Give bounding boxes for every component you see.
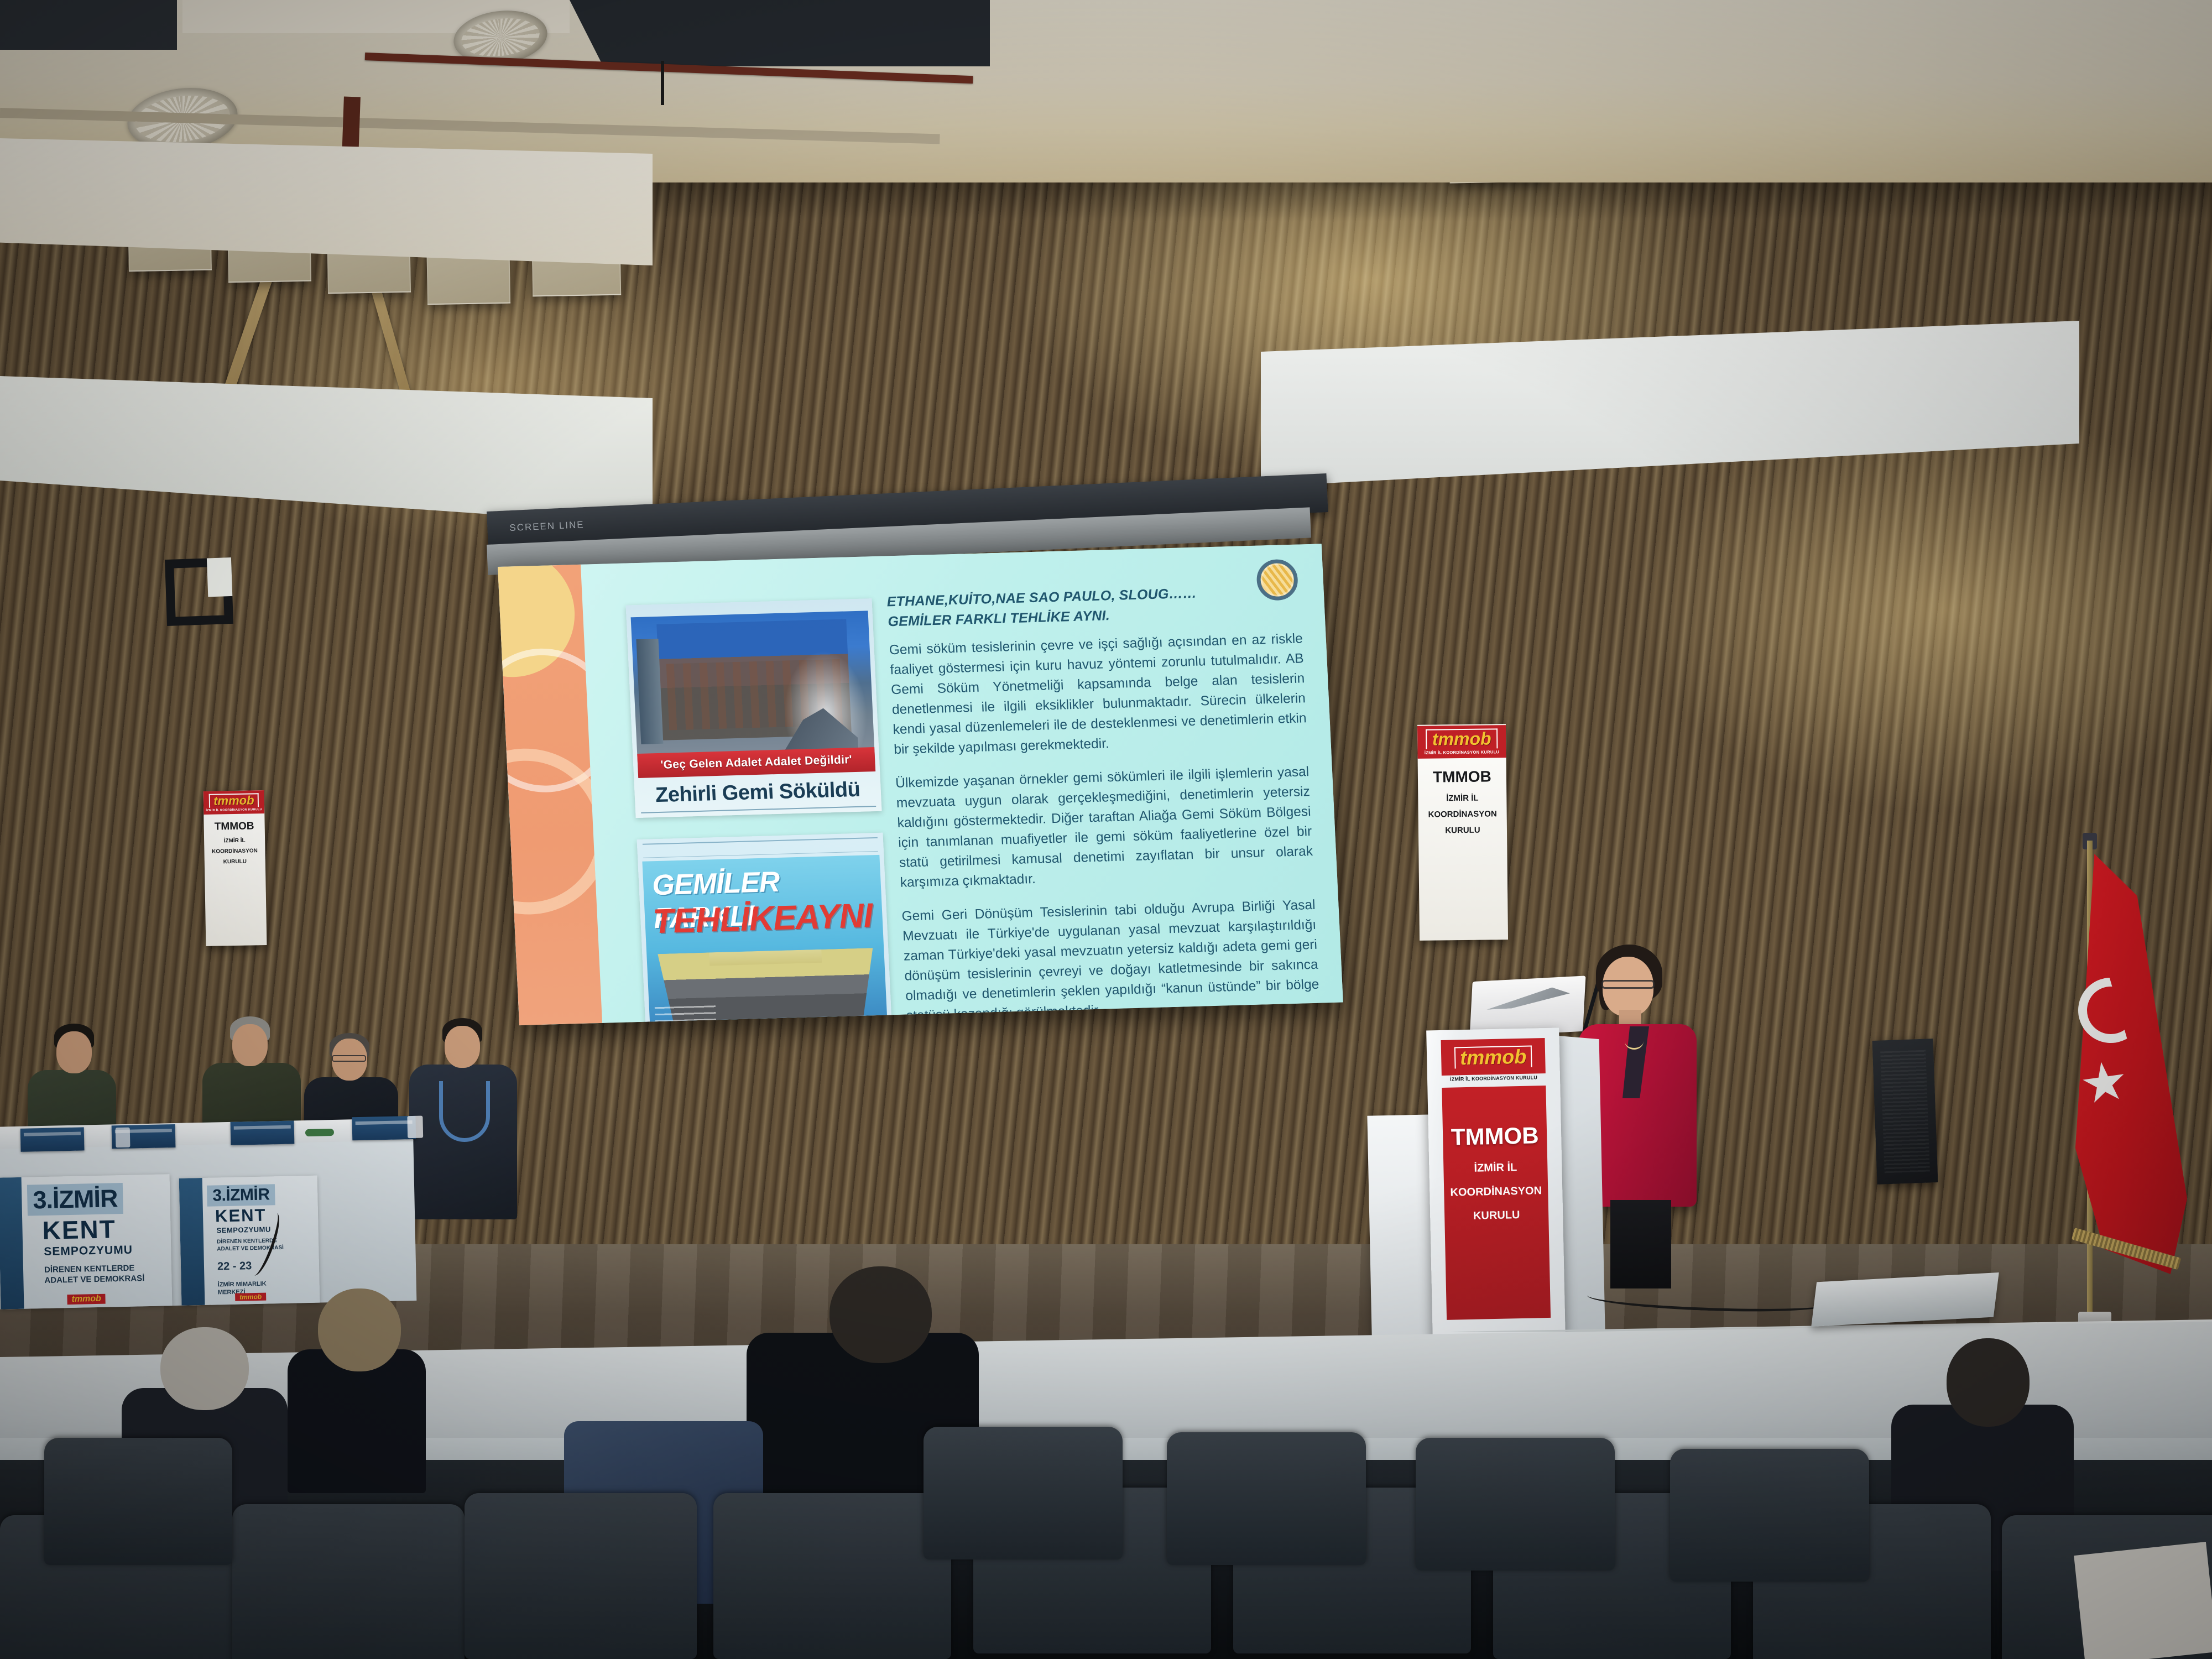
podium-line1: TMMOB [1443,1122,1547,1151]
symposium-banner-text: 3.İZMİR KENT SEMPOZYUMU DİRENEN KENTLERD… [27,1182,168,1286]
tmmob-logo: tmmob İZMİR İL KOORDİNASYON KURULU [1417,724,1506,759]
podium-name-plate: TMMOB İZMİR İL KOORDİNASYON KURULU [1442,1086,1551,1320]
panelist-head [232,1024,268,1066]
symposium-banner-bluebar [179,1178,205,1306]
tmmob-org-line1: TMMOB [1418,768,1506,786]
pa-loudspeaker [1872,1039,1938,1185]
podium-front: tmmob İZMİR İL KOORDİNASYON KURULU TMMOB… [1426,1027,1566,1340]
slide-paragraph-1: Gemi söküm tesislerinin çevre ve işçi sa… [889,629,1308,760]
water-glass [407,1116,423,1139]
audience-seat [1670,1449,1869,1582]
marker-pen [305,1129,334,1136]
news-cover-line2: TEHLİKE [652,898,797,941]
ceiling-recess-left [0,0,177,50]
news-clipping-bottom: GEMİLER FARKLI TEHLİKE AYNI [637,833,896,1025]
tmmob-org-line1: TMMOB [204,820,265,833]
presenter-legs [1610,1200,1671,1288]
audience-seat [924,1427,1123,1559]
necklace-icon [1625,1033,1644,1050]
podium-tmmob-logo: tmmob [1441,1038,1546,1076]
news-cover: GEMİLER FARKLI TEHLİKE AYNI [642,855,891,1025]
tmmob-logo: tmmob İZMİR İL KOORDİNASYON KURULU [204,790,265,815]
symposium-venue-line1: İZMİR MİMARLIK [218,1281,267,1288]
podium-logo-caption: İZMİR İL KOORDİNASYON KURULU [1442,1074,1546,1082]
tmmob-org-line2: İZMİR İL [1418,793,1506,804]
tmmob-banner-left: tmmob İZMİR İL KOORDİNASYON KURULU TMMOB… [204,790,267,946]
water-glass [116,1128,131,1148]
slide-surface: 'Geç Gelen Adalet Adalet Değildir' Zehir… [498,544,1343,1025]
audience-seat [232,1504,465,1659]
paper-sheet [2074,1542,2212,1659]
panel-table: 3.İZMİR KENT SEMPOZYUMU DİRENEN KENTLERD… [0,1118,416,1310]
tmmob-banner-text: TMMOB İZMİR İL KOORDİNASYON KURULU [1418,758,1507,836]
news-cover-line3: AYNI [794,896,873,937]
podium-line3: KOORDİNASYON [1444,1185,1548,1199]
projection-screen: 'Geç Gelen Adalet Adalet Değildir' Zehir… [498,544,1343,1025]
audience-seat [465,1493,697,1659]
audience-seat [713,1493,951,1659]
panelist-head [445,1026,480,1068]
symposium-subtitle-line2: ADALET VE DEMOKRASİ [44,1273,167,1286]
audience-person-head [160,1327,249,1410]
tmmob-banner-text: TMMOB İZMİR İL KOORDİNASYON KURULU [204,813,265,865]
symposium-tmmob-logo: tmmob [235,1293,266,1301]
screen-brand-label: SCREEN LINE [509,519,585,534]
tmmob-org-line2: İZMİR İL [204,837,265,844]
ship-superstructure [709,937,822,966]
flag-cloth [2068,854,2187,1274]
wall-square-motif-icon [165,557,233,626]
tmmob-logo-sub: İZMİR İL KOORDİNASYON KURULU [1421,749,1503,755]
symposium-banner-b: 3.İZMİR KENT SEMPOZYUMU DİRENEN KENTLERD… [179,1176,320,1306]
tmmob-logo-word: tmmob [209,793,259,808]
panelist-head [56,1031,92,1073]
audience-seat [1416,1438,1615,1571]
podium-logo-word: tmmob [1454,1045,1532,1068]
glasses-icon [332,1055,366,1062]
audience-person-head [830,1266,932,1363]
news-clipping-top: 'Geç Gelen Adalet Adalet Değildir' Zehir… [626,598,882,818]
audience-person-head [318,1288,401,1371]
tmmob-org-line4: KURULU [1418,825,1507,836]
audience-seat [1167,1432,1366,1565]
tmmob-org-line3: KOORDİNASYON [204,848,265,855]
ceiling-hanger-wire [661,61,664,105]
slide-title: ETHANE,KUİTO,NAE SAO PAULO, SLOUG…… GEMİ… [886,581,1302,632]
lanyard [439,1081,490,1142]
slide-text-column: ETHANE,KUİTO,NAE SAO PAULO, SLOUG…… GEMİ… [886,581,1319,1000]
symposium-sempozyumu: SEMPOZYUMU [44,1243,166,1259]
symposium-number-city: 3.İZMİR [207,1184,275,1207]
symposium-tmmob-logo: tmmob [67,1294,106,1305]
symposium-kent: KENT [215,1204,315,1227]
ceiling-recess-right [570,0,990,66]
tmmob-logo-word: tmmob [1426,728,1498,749]
tmmob-logo-sub: İZMİR İL KOORDİNASYON KURULU [206,808,262,812]
news-headline: Zehirli Gemi Söküldü [640,775,876,810]
symposium-banner-bluebar [0,1177,24,1310]
audience-person-head [1947,1338,2030,1427]
symposium-subtitle: DİRENEN KENTLERDE ADALET VE DEMOKRASİ [44,1262,168,1286]
audience-seat [44,1438,232,1565]
turkish-flag [2046,841,2195,1338]
panelist-nameplate [231,1120,295,1145]
podium: tmmob İZMİR İL KOORDİNASYON KURULU TMMOB… [1426,1027,1615,1340]
panelist-nameplate [20,1127,85,1151]
tmmob-org-line3: KOORDİNASYON [1418,809,1507,820]
glasses-icon [1601,980,1655,989]
symposium-banner-a: 3.İZMİR KENT SEMPOZYUMU DİRENEN KENTLERD… [0,1174,172,1309]
conference-hall-photo: SCREEN LINE 'Geç Gelen Adale [0,0,2212,1659]
panelist-nameplate [352,1116,416,1140]
tmmob-org-line4: KURULU [205,858,265,865]
slide-paragraph-2: Ülkemizde yaşanan örnekler gemi sökümler… [895,762,1314,893]
tmmob-banner-right: tmmob İZMİR İL KOORDİNASYON KURULU TMMOB… [1417,724,1508,941]
symposium-venue: İZMİR MİMARLIK MERKEZİ [218,1279,317,1297]
news-red-banner-text: 'Geç Gelen Adalet Adalet Değildir' [660,753,853,772]
symposium-number-city: 3.İZMİR [27,1183,123,1216]
symposium-kent: KENT [42,1213,166,1245]
news-masthead-rules [643,837,878,858]
podium-line2: İZMİR İL [1443,1161,1547,1176]
podium-line4: KURULU [1444,1208,1548,1223]
